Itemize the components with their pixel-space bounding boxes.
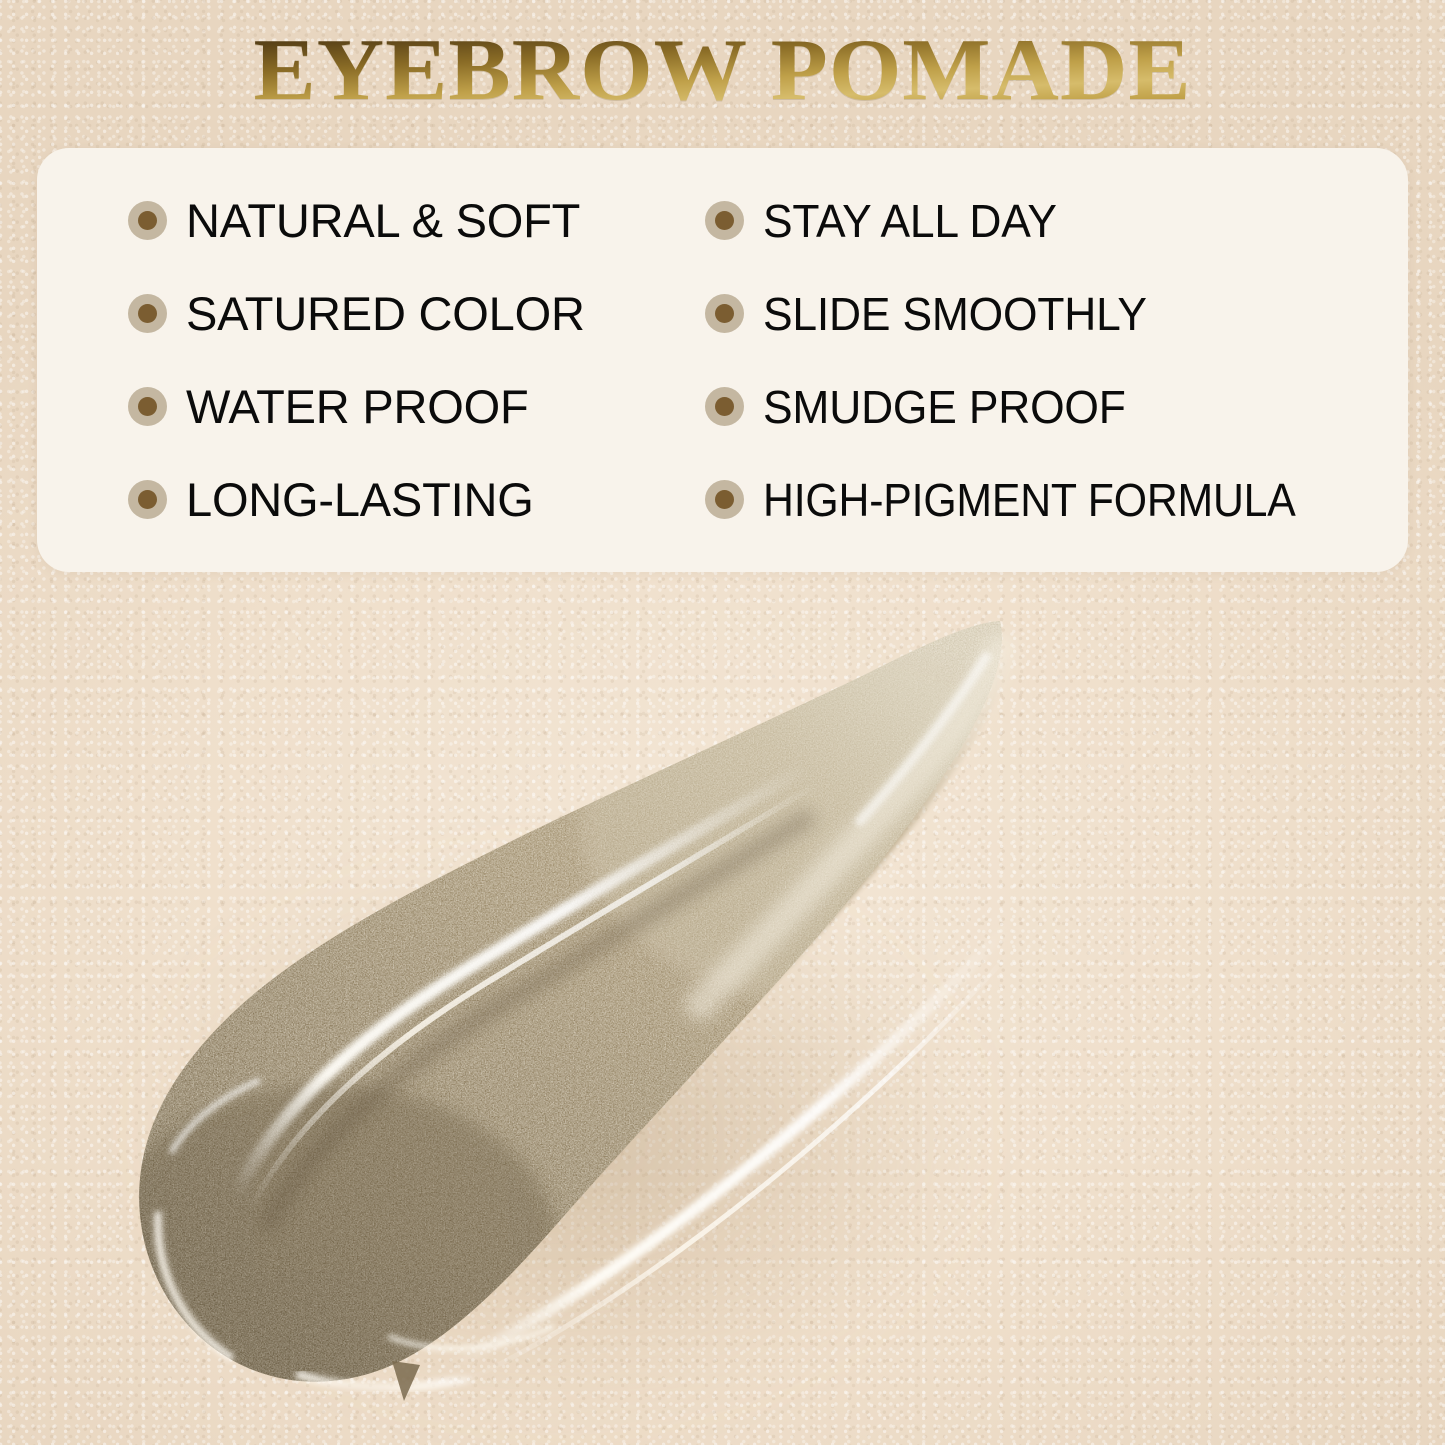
feature-label: LONG-LASTING (186, 476, 534, 523)
feature-label: SATURED COLOR (186, 290, 585, 337)
bullet-icon (705, 294, 744, 333)
bullet-core-icon (715, 490, 734, 509)
feature-label: STAY ALL DAY (763, 198, 1057, 244)
feature-item-long-lasting: LONG-LASTING (128, 476, 705, 523)
feature-label: HIGH-PIGMENT FORMULA (763, 477, 1296, 523)
bullet-icon (128, 294, 167, 333)
feature-item-high-pigment-formula: HIGH-PIGMENT FORMULA (705, 477, 1408, 523)
bullet-icon (128, 480, 167, 519)
feature-card: NATURAL & SOFT STAY ALL DAY SATURED COLO… (37, 148, 1408, 572)
feature-item-satured-color: SATURED COLOR (128, 290, 705, 337)
title-container: EYEBROW POMADE (0, 26, 1445, 116)
bullet-icon (128, 387, 167, 426)
bullet-icon (705, 387, 744, 426)
bullet-core-icon (138, 490, 157, 509)
feature-label: WATER PROOF (186, 383, 528, 430)
bullet-core-icon (715, 397, 734, 416)
bullet-core-icon (138, 211, 157, 230)
feature-label: SMUDGE PROOF (763, 384, 1126, 430)
feature-item-water-proof: WATER PROOF (128, 383, 705, 430)
bullet-core-icon (138, 304, 157, 323)
feature-item-smudge-proof: SMUDGE PROOF (705, 384, 1408, 430)
bullet-icon (128, 201, 167, 240)
product-swatch (0, 575, 1445, 1445)
feature-grid: NATURAL & SOFT STAY ALL DAY SATURED COLO… (37, 148, 1408, 572)
feature-item-slide-smoothly: SLIDE SMOOTHLY (705, 291, 1408, 337)
bullet-icon (705, 201, 744, 240)
product-swatch-image (0, 575, 1445, 1445)
bullet-core-icon (715, 211, 734, 230)
feature-item-stay-all-day: STAY ALL DAY (705, 198, 1408, 244)
feature-item-natural-soft: NATURAL & SOFT (128, 197, 705, 244)
feature-label: SLIDE SMOOTHLY (763, 291, 1147, 337)
bullet-icon (705, 480, 744, 519)
page-title: EYEBROW POMADE (253, 26, 1191, 116)
feature-label: NATURAL & SOFT (186, 197, 580, 244)
bullet-core-icon (715, 304, 734, 323)
page-background: EYEBROW POMADE NATURAL & SOFT STAY ALL D… (0, 0, 1445, 1445)
bullet-core-icon (138, 397, 157, 416)
